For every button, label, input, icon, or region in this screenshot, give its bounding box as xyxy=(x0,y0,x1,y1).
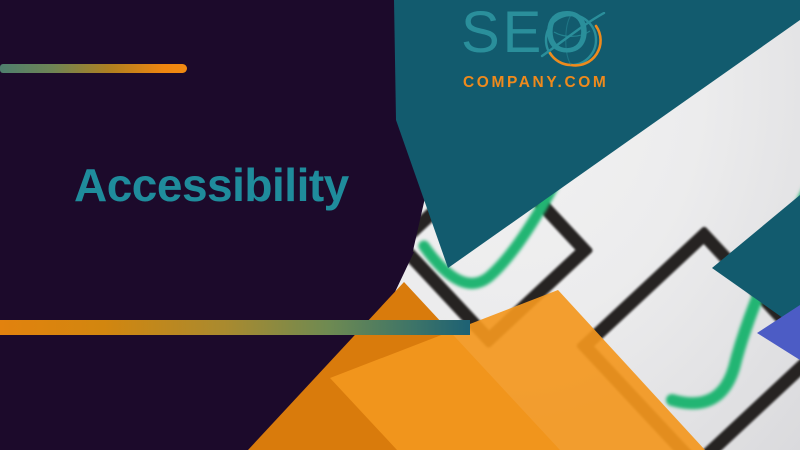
logo-tagline: COMPANY.COM xyxy=(463,74,608,92)
logo[interactable]: SEO COMPANY.COM xyxy=(461,6,611,98)
banner-canvas: Accessibility SEO COMPANY.COM xyxy=(0,0,800,450)
gradient-accent-bar-top xyxy=(0,64,187,73)
globe-swoosh-icon xyxy=(540,12,606,68)
gradient-accent-bar-bottom xyxy=(0,320,470,335)
page-title: Accessibility xyxy=(74,160,349,211)
